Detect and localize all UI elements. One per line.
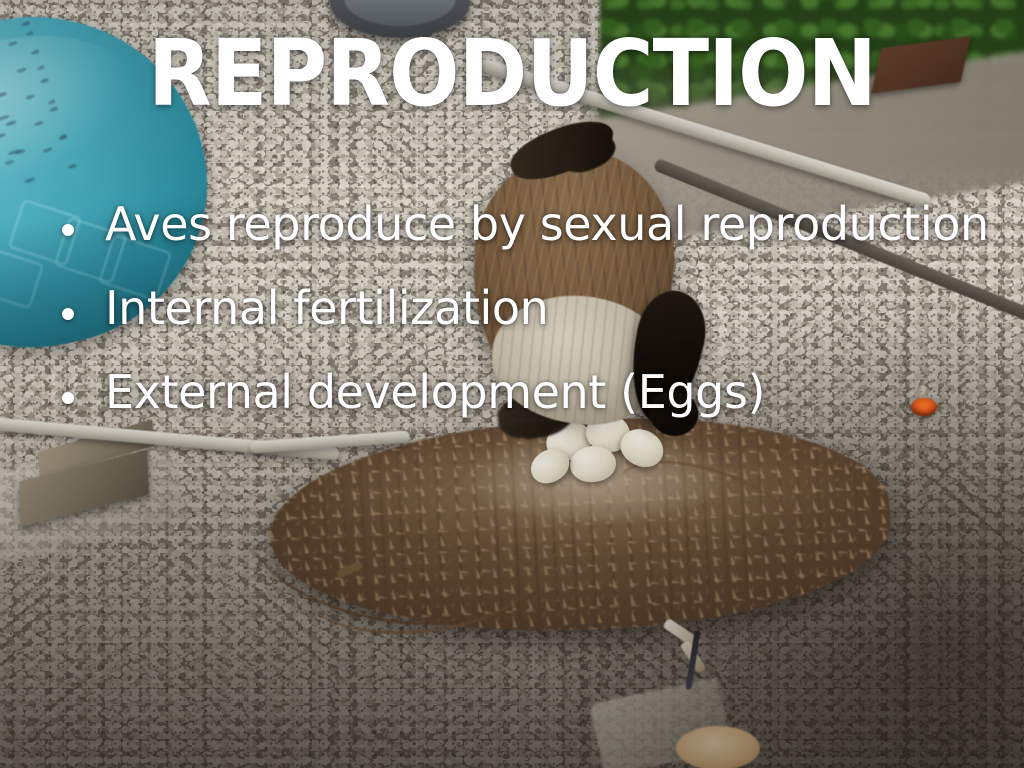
presentation-slide: REPRODUCTION Aves reproduce by sexual re…	[0, 0, 1024, 768]
list-item: Aves reproduce by sexual reproduction	[62, 200, 998, 254]
bullet-text: Internal fertilization	[105, 284, 548, 334]
bullet-list: Aves reproduce by sexual reproduction In…	[62, 200, 998, 452]
bullet-dot-icon	[62, 308, 74, 320]
bullet-text: External development (Eggs)	[105, 368, 765, 418]
bullet-dot-icon	[62, 392, 74, 404]
list-item: External development (Eggs)	[62, 368, 998, 422]
bullet-dot-icon	[62, 224, 74, 236]
list-item: Internal fertilization	[62, 284, 998, 338]
slide-title: REPRODUCTION	[51, 28, 973, 120]
slide-content: REPRODUCTION Aves reproduce by sexual re…	[0, 0, 1024, 768]
bullet-text: Aves reproduce by sexual reproduction	[105, 200, 989, 250]
